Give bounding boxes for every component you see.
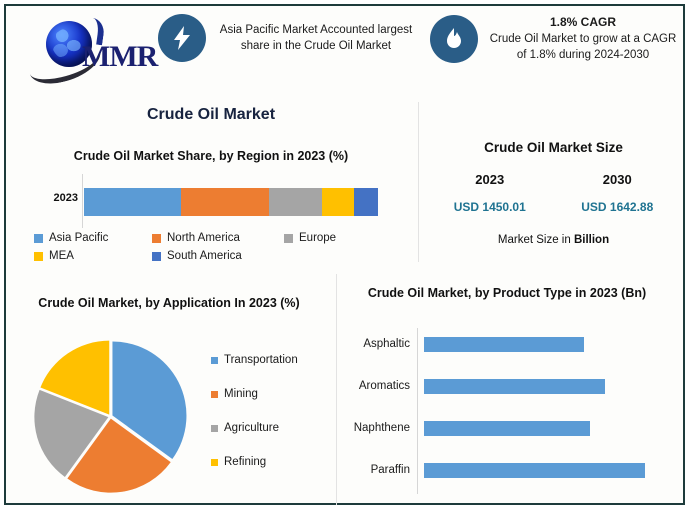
header-band: MMR Asia Pacific Market Accounted larges… xyxy=(6,6,683,98)
market-size-year-2023: 2023 xyxy=(426,172,554,187)
legend-label: North America xyxy=(167,232,240,244)
region-chart-category-label: 2023 xyxy=(42,192,78,204)
product-bar-row: Aromatics xyxy=(342,376,678,396)
legend-swatch-icon xyxy=(211,357,218,364)
market-size-value-2030: USD 1642.88 xyxy=(554,200,682,214)
product-category-label: Aromatics xyxy=(342,380,417,392)
legend-item[interactable]: Refining xyxy=(211,456,331,468)
market-size-unit: Billion xyxy=(574,234,609,246)
legend-item[interactable]: North America xyxy=(152,232,284,244)
legend-item[interactable]: South America xyxy=(152,250,284,262)
legend-swatch-icon xyxy=(211,391,218,398)
header-highlight: Asia Pacific Market Accounted largest sh… xyxy=(158,14,416,62)
product-bar xyxy=(424,337,584,352)
product-chart-plot: AsphalticAromaticsNaphtheneParaffin xyxy=(342,328,678,500)
legend-swatch-icon xyxy=(34,234,43,243)
application-chart-title: Crude Oil Market, by Application In 2023… xyxy=(14,294,324,312)
legend-item[interactable]: Agriculture xyxy=(211,422,331,434)
product-bar xyxy=(424,421,590,436)
region-segment xyxy=(354,188,378,216)
market-size-title: Crude Oil Market Size xyxy=(426,140,681,155)
region-segment xyxy=(84,188,181,216)
legend-item[interactable]: Transportation xyxy=(211,354,331,366)
legend-label: MEA xyxy=(49,250,74,262)
application-pie-chart xyxy=(33,339,188,494)
region-chart-title: Crude Oil Market Share, by Region in 202… xyxy=(6,149,416,163)
legend-swatch-icon xyxy=(211,425,218,432)
product-category-label: Naphthene xyxy=(342,422,417,434)
legend-swatch-icon xyxy=(211,459,218,466)
region-segment xyxy=(269,188,322,216)
market-size-footnote-prefix: Market Size in xyxy=(498,234,574,246)
brand-name: MMR xyxy=(82,40,157,74)
legend-label: Europe xyxy=(299,232,336,244)
legend-label: Refining xyxy=(224,456,266,468)
market-size-years: 2023 2030 xyxy=(426,172,681,187)
product-bar-row: Paraffin xyxy=(342,460,678,480)
region-chart-legend: Asia PacificNorth AmericaEuropeMEASouth … xyxy=(34,232,402,262)
legend-item[interactable]: Mining xyxy=(211,388,331,400)
market-size-divider xyxy=(418,102,419,262)
product-chart-title: Crude Oil Market, by Product Type in 202… xyxy=(342,284,672,302)
region-segment xyxy=(322,188,354,216)
flame-icon xyxy=(430,15,478,63)
header-cagr: 1.8% CAGR Crude Oil Market to grow at a … xyxy=(430,14,678,63)
product-bar-row: Asphaltic xyxy=(342,334,678,354)
region-stacked-bar xyxy=(84,188,378,216)
legend-item[interactable]: Europe xyxy=(284,232,384,244)
product-bar-row: Naphthene xyxy=(342,418,678,438)
legend-swatch-icon xyxy=(152,234,161,243)
legend-item[interactable]: MEA xyxy=(34,250,152,262)
product-chart-divider xyxy=(336,274,337,505)
page-title: Crude Oil Market xyxy=(6,106,416,124)
region-chart-axis xyxy=(82,174,83,228)
product-bar xyxy=(424,463,645,478)
legend-swatch-icon xyxy=(284,234,293,243)
region-chart-plot: 2023 xyxy=(34,174,394,228)
legend-label: Transportation xyxy=(224,354,298,366)
product-category-label: Asphaltic xyxy=(342,338,417,350)
legend-item[interactable]: Asia Pacific xyxy=(34,232,152,244)
lightning-bolt-icon xyxy=(158,14,206,62)
legend-label: South America xyxy=(167,250,242,262)
cagr-description: Crude Oil Market to grow at a CAGR of 1.… xyxy=(490,33,677,61)
market-size-footnote: Market Size in Billion xyxy=(426,234,681,246)
market-size-values: USD 1450.01 USD 1642.88 xyxy=(426,200,681,214)
header-cagr-text: 1.8% CAGR Crude Oil Market to grow at a … xyxy=(488,14,678,63)
legend-label: Agriculture xyxy=(224,422,279,434)
market-size-value-2023: USD 1450.01 xyxy=(426,200,554,214)
infographic-frame: MMR Asia Pacific Market Accounted larges… xyxy=(4,4,685,505)
legend-label: Asia Pacific xyxy=(49,232,108,244)
legend-swatch-icon xyxy=(152,252,161,261)
header-highlight-text: Asia Pacific Market Accounted largest sh… xyxy=(216,22,416,54)
region-segment xyxy=(181,188,269,216)
product-category-label: Paraffin xyxy=(342,464,417,476)
application-chart-legend: TransportationMiningAgricultureRefining xyxy=(211,354,331,468)
market-size-year-2030: 2030 xyxy=(554,172,682,187)
legend-label: Mining xyxy=(224,388,258,400)
cagr-headline: 1.8% CAGR xyxy=(550,15,616,29)
legend-swatch-icon xyxy=(34,252,43,261)
mmr-logo: MMR xyxy=(20,12,150,80)
product-bar xyxy=(424,379,605,394)
